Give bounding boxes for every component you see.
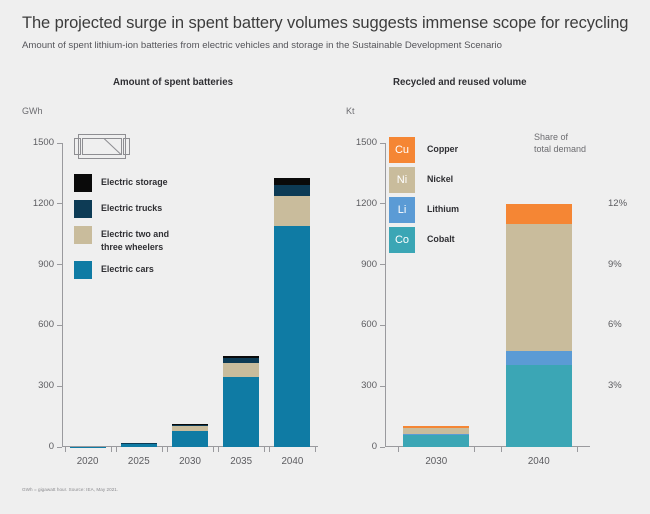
x-axis-tick xyxy=(116,447,117,452)
legend-item-electric-trucks[interactable]: Electric trucks xyxy=(74,200,162,218)
left-chart-y-axis xyxy=(62,143,63,447)
y-axis-tick-label: 1200 xyxy=(335,198,377,209)
y-axis-tick-label: 600 xyxy=(335,319,377,330)
x-axis-tick xyxy=(315,447,316,452)
y-axis-tick xyxy=(57,143,62,144)
y-axis-tick xyxy=(57,325,62,326)
y-axis-tick xyxy=(380,203,385,204)
x-axis-tick xyxy=(264,447,265,452)
y-axis-tick-label: 900 xyxy=(12,259,54,270)
bar-segment-nickel xyxy=(403,428,469,434)
bar-segment-copper xyxy=(403,426,469,427)
legend-label-electric-cars: Electric cars xyxy=(101,261,154,276)
bar-segment-electric-storage xyxy=(274,178,310,184)
left-chart-title: Amount of spent batteries xyxy=(113,77,233,88)
page-subtitle: Amount of spent lithium-ion batteries fr… xyxy=(22,40,637,51)
legend-item-nickel[interactable]: NiNickel xyxy=(389,167,453,193)
legend-swatch-electric-cars xyxy=(74,261,92,279)
legend-swatch-electric-two-three-wheelers xyxy=(74,226,92,244)
bar-segment-cobalt xyxy=(403,435,469,447)
y-axis-tick-label: 1500 xyxy=(335,137,377,148)
bar-segment-copper xyxy=(506,204,572,224)
y-axis-tick xyxy=(380,447,385,448)
y-axis-tick-label: 300 xyxy=(335,380,377,391)
bar-segment-lithium xyxy=(506,351,572,365)
legend-symbol-lithium: Li xyxy=(389,197,415,223)
y-axis-tick xyxy=(57,386,62,387)
bar-segment-electric-two-and-three-wheelers xyxy=(172,426,208,431)
right-chart-title: Recycled and reused volume xyxy=(393,77,527,88)
secondary-axis-tick-label: 12% xyxy=(608,198,627,209)
bar-segment-electric-trucks xyxy=(223,358,259,362)
y-axis-tick xyxy=(57,447,62,448)
y-axis-tick-label: 1200 xyxy=(12,198,54,209)
bar-segment-electric-storage xyxy=(223,356,259,358)
legend-label-copper: Copper xyxy=(427,137,458,154)
y-axis-tick xyxy=(380,143,385,144)
secondary-axis-tick-label: 3% xyxy=(608,380,622,391)
legend-symbol-copper: Cu xyxy=(389,137,415,163)
y-axis-tick xyxy=(57,264,62,265)
x-axis-tick-label: 2040 xyxy=(262,456,322,467)
x-axis-tick xyxy=(167,447,168,452)
legend-label-electric-storage: Electric storage xyxy=(101,174,168,189)
x-axis-tick xyxy=(162,447,163,452)
bar-segment-electric-two-and-three-wheelers xyxy=(121,443,157,444)
legend-item-electric-storage[interactable]: Electric storage xyxy=(74,174,168,192)
x-axis-tick xyxy=(577,447,578,452)
bar-2030[interactable] xyxy=(403,426,469,447)
y-axis-tick xyxy=(380,264,385,265)
page-title: The projected surge in spent battery vol… xyxy=(22,14,637,33)
x-axis-tick-label: 2030 xyxy=(406,456,466,467)
legend-item-lithium[interactable]: LiLithium xyxy=(389,197,459,223)
bar-segment-electric-two-and-three-wheelers xyxy=(223,363,259,378)
x-axis-tick xyxy=(218,447,219,452)
bar-segment-electric-cars xyxy=(121,444,157,447)
bar-segment-electric-cars xyxy=(223,377,259,447)
y-axis-tick xyxy=(57,203,62,204)
x-axis-tick xyxy=(398,447,399,452)
bar-segment-lithium xyxy=(403,434,469,436)
bar-2025[interactable] xyxy=(121,443,157,447)
secondary-axis-tick-label: 9% xyxy=(608,259,622,270)
bar-segment-electric-trucks xyxy=(172,425,208,427)
x-axis-tick xyxy=(65,447,66,452)
legend-symbol-cobalt: Co xyxy=(389,227,415,253)
legend-label-cobalt: Cobalt xyxy=(427,227,455,244)
bar-segment-electric-cars xyxy=(274,226,310,447)
legend-symbol-nickel: Ni xyxy=(389,167,415,193)
y-axis-tick xyxy=(380,386,385,387)
footnote: GWh = gigawatt hour. Source: IEA, May 20… xyxy=(22,487,118,492)
legend-label-electric-trucks: Electric trucks xyxy=(101,200,162,215)
right-axis-unit-label: Kt xyxy=(346,106,355,116)
bar-2035[interactable] xyxy=(223,356,259,447)
x-axis-tick xyxy=(213,447,214,452)
secondary-axis-tick-label: 6% xyxy=(608,319,622,330)
legend-swatch-electric-storage xyxy=(74,174,92,192)
left-axis-unit-label: GWh xyxy=(22,106,43,116)
x-axis-tick xyxy=(474,447,475,452)
legend-item-copper[interactable]: CuCopper xyxy=(389,137,458,163)
y-axis-tick-label: 600 xyxy=(12,319,54,330)
legend-swatch-electric-trucks xyxy=(74,200,92,218)
bar-2040[interactable] xyxy=(506,204,572,447)
bar-segment-electric-cars xyxy=(172,431,208,447)
bar-2040[interactable] xyxy=(274,178,310,447)
legend-label-electric-two-three-wheelers: Electric two and three wheelers xyxy=(101,226,169,253)
right-chart-y-axis xyxy=(385,143,386,447)
bar-segment-cobalt xyxy=(506,365,572,447)
legend-label-nickel: Nickel xyxy=(427,167,453,184)
y-axis-tick-label: 900 xyxy=(335,259,377,270)
legend-item-cobalt[interactable]: CoCobalt xyxy=(389,227,455,253)
x-axis-tick xyxy=(501,447,502,452)
y-axis-tick-label: 0 xyxy=(12,441,54,452)
bar-segment-nickel xyxy=(506,224,572,351)
bar-segment-electric-storage xyxy=(172,424,208,425)
x-axis-tick xyxy=(269,447,270,452)
legend-label-lithium: Lithium xyxy=(427,197,459,214)
x-axis-tick-label: 2040 xyxy=(509,456,569,467)
y-axis-tick-label: 300 xyxy=(12,380,54,391)
bar-segment-electric-two-and-three-wheelers xyxy=(274,196,310,226)
bar-segment-electric-trucks xyxy=(274,185,310,196)
y-axis-tick-label: 0 xyxy=(335,441,377,452)
bar-2030[interactable] xyxy=(172,424,208,447)
y-axis-tick-label: 1500 xyxy=(12,137,54,148)
x-axis-tick xyxy=(111,447,112,452)
legend-item-electric-two-three-wheelers[interactable]: Electric two and three wheelers xyxy=(74,226,169,253)
y-axis-tick xyxy=(380,325,385,326)
legend-item-electric-cars[interactable]: Electric cars xyxy=(74,261,154,279)
chart-page: The projected surge in spent battery vol… xyxy=(0,0,650,514)
